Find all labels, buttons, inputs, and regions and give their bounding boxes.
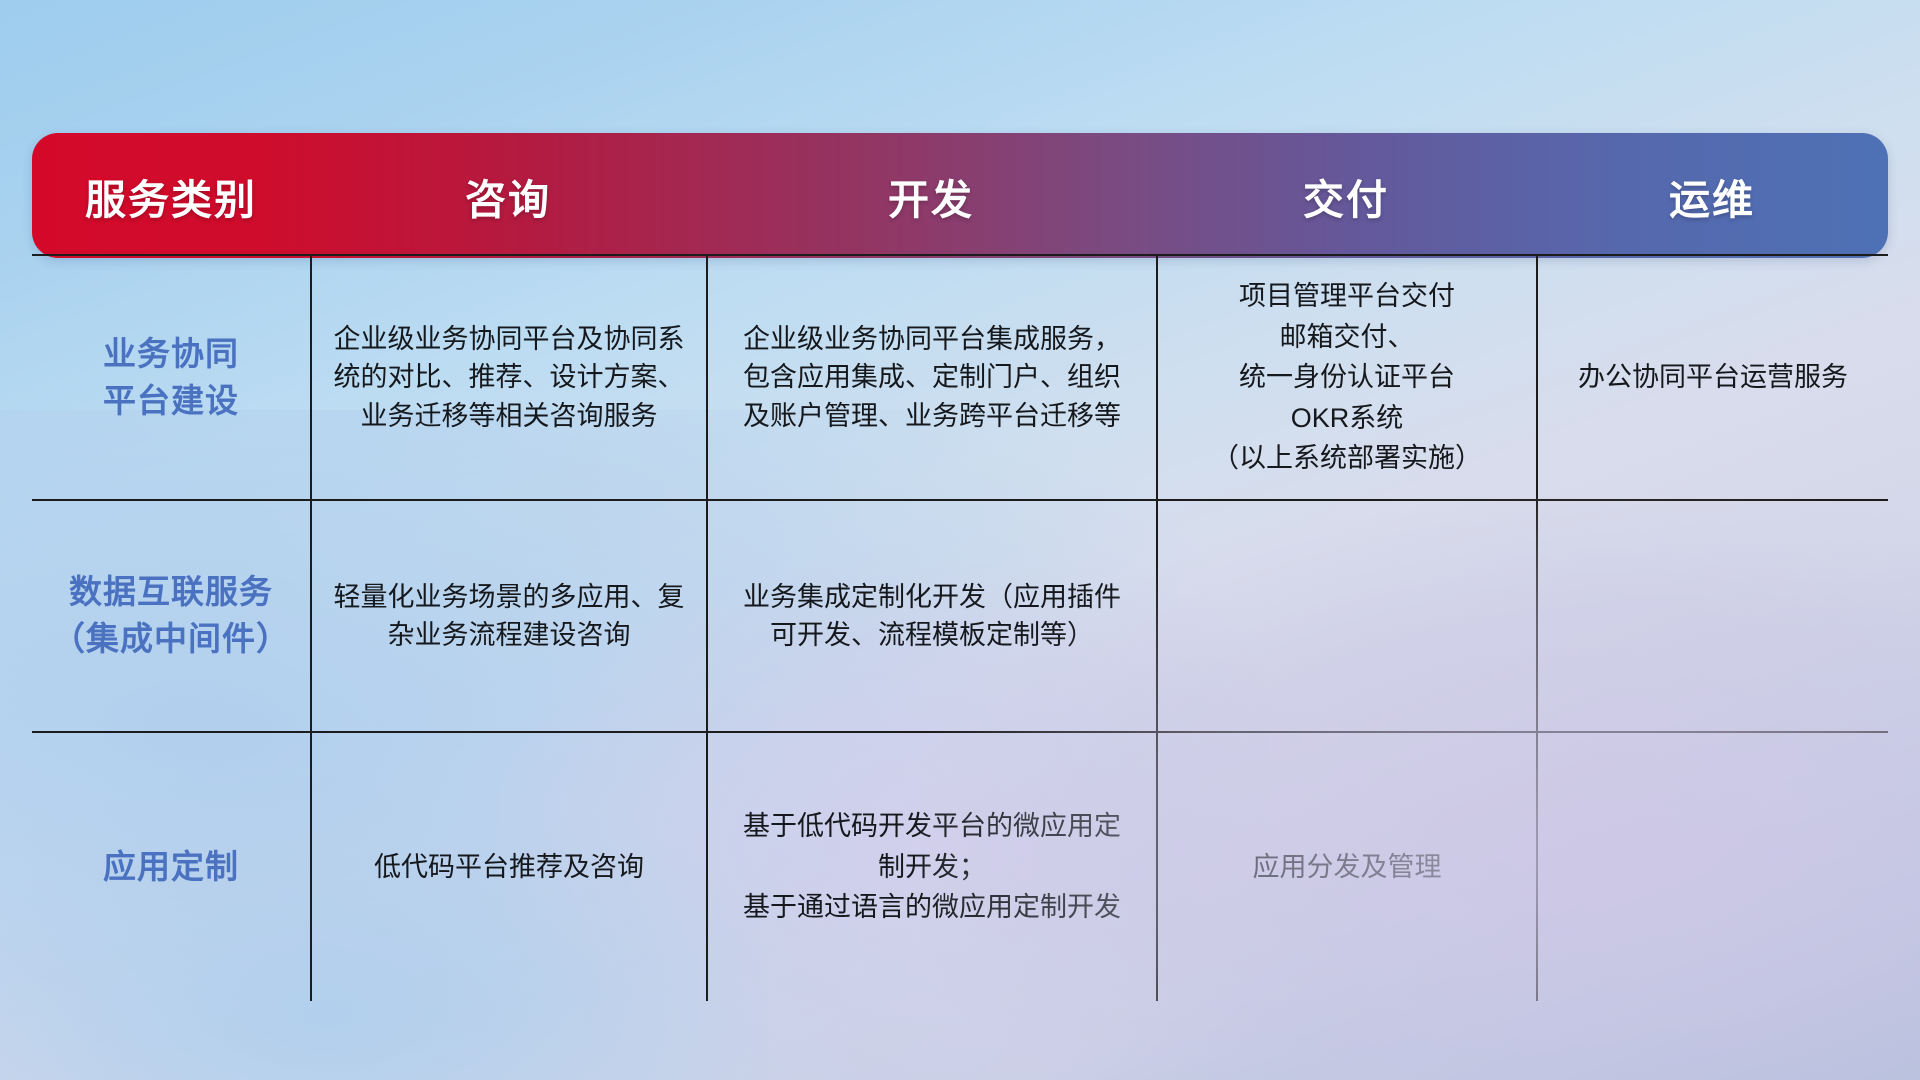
cell-text: 轻量化业务场景的多应用、复 杂业务流程建设咨询 [334, 578, 685, 655]
column-header-consulting: 咨询 [310, 133, 706, 258]
slide-canvas: 服务类别 咨询 开发 交付 运维 业务协同 平台建设 [0, 0, 1920, 1080]
cell-text: 低代码平台推荐及咨询 [374, 848, 644, 886]
cell-consulting: 企业级业务协同平台及协同系 统的对比、推荐、设计方案、 业务迁移等相关咨询服务 [310, 256, 706, 499]
column-header-label: 服务类别 [85, 166, 257, 226]
cell-consulting: 轻量化业务场景的多应用、复 杂业务流程建设咨询 [310, 501, 706, 731]
table-body: 业务协同 平台建设 企业级业务协同平台及协同系 统的对比、推荐、设计方案、 业务… [32, 254, 1888, 1001]
cell-text: 项目管理平台交付 邮箱交付、 统一身份认证平台 OKR系统 （以上系统部署实施） [1212, 276, 1482, 479]
cell-text: 企业级业务协同平台集成服务， 包含应用集成、定制门户、组织 及账户管理、业务跨平… [743, 320, 1121, 435]
cell-delivery [1156, 501, 1536, 731]
table-row: 应用定制 低代码平台推荐及咨询 基于低代码开发平台的微应用定 制开发； 基于通过… [32, 731, 1888, 1001]
cell-development: 业务集成定制化开发（应用插件 可开发、流程模板定制等） [706, 501, 1156, 731]
column-header-label: 运维 [1669, 166, 1755, 226]
cell-text: 应用分发及管理 [1253, 848, 1442, 886]
cell-delivery: 应用分发及管理 [1156, 733, 1536, 1001]
column-header-category: 服务类别 [32, 133, 310, 258]
column-header-delivery: 交付 [1156, 133, 1536, 258]
column-header-operations: 运维 [1536, 133, 1888, 258]
row-category-label: 数据互联服务 （集成中间件） [52, 569, 290, 663]
cell-delivery: 项目管理平台交付 邮箱交付、 统一身份认证平台 OKR系统 （以上系统部署实施） [1156, 256, 1536, 499]
table-header-row: 服务类别 咨询 开发 交付 运维 [32, 133, 1888, 258]
row-category-cell: 应用定制 [32, 733, 310, 1001]
row-category-cell: 数据互联服务 （集成中间件） [32, 501, 310, 731]
cell-operations: 办公协同平台运营服务 [1536, 256, 1888, 499]
cell-text: 业务集成定制化开发（应用插件 可开发、流程模板定制等） [743, 578, 1121, 655]
cell-consulting: 低代码平台推荐及咨询 [310, 733, 706, 1001]
cell-operations [1536, 733, 1888, 1001]
cell-development: 基于低代码开发平台的微应用定 制开发； 基于通过语言的微应用定制开发 [706, 733, 1156, 1001]
cell-text: 办公协同平台运营服务 [1578, 358, 1848, 396]
column-header-label: 开发 [888, 166, 974, 226]
table-row: 数据互联服务 （集成中间件） 轻量化业务场景的多应用、复 杂业务流程建设咨询 业… [32, 499, 1888, 731]
row-category-cell: 业务协同 平台建设 [32, 256, 310, 499]
row-category-label: 业务协同 平台建设 [103, 331, 239, 425]
cell-text: 基于低代码开发平台的微应用定 制开发； 基于通过语言的微应用定制开发 [743, 806, 1121, 928]
column-header-label: 咨询 [465, 166, 551, 226]
row-category-label: 应用定制 [103, 844, 239, 891]
cell-text: 企业级业务协同平台及协同系 统的对比、推荐、设计方案、 业务迁移等相关咨询服务 [334, 320, 685, 435]
cell-operations [1536, 501, 1888, 731]
cell-development: 企业级业务协同平台集成服务， 包含应用集成、定制门户、组织 及账户管理、业务跨平… [706, 256, 1156, 499]
column-header-development: 开发 [706, 133, 1156, 258]
service-matrix-table: 服务类别 咨询 开发 交付 运维 业务协同 平台建设 [32, 133, 1888, 1001]
table-row: 业务协同 平台建设 企业级业务协同平台及协同系 统的对比、推荐、设计方案、 业务… [32, 254, 1888, 499]
column-header-label: 交付 [1303, 166, 1389, 226]
